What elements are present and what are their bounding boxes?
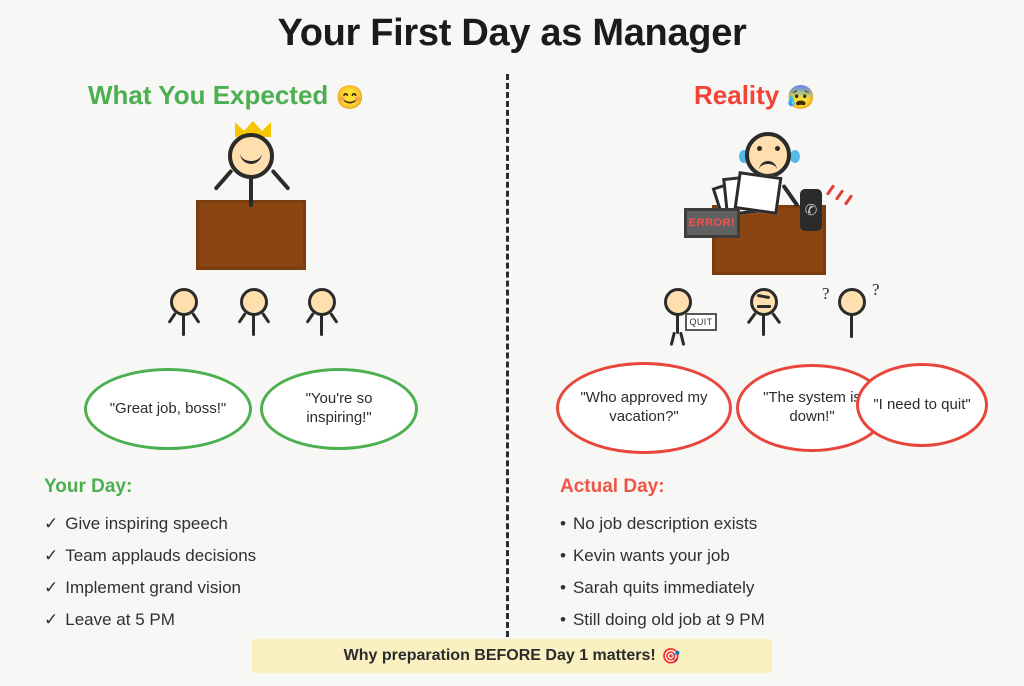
team-member-torso	[320, 314, 323, 336]
anxious-face-with-sweat-icon: 😰	[787, 84, 816, 110]
reality-heading-label: Reality	[694, 80, 779, 110]
team-member-left-arm	[306, 312, 315, 324]
reality-list-title: Actual Day:	[560, 476, 665, 498]
list-item: • No job description exists	[560, 508, 765, 540]
infographic-canvas: Your First Day as Manager What You Expec…	[0, 0, 1024, 686]
team-member-left-arm	[168, 312, 177, 324]
laptop-error-icon: ERROR!	[684, 208, 740, 238]
list-item-label: Team applauds decisions	[65, 546, 256, 566]
vertical-dashed-divider	[506, 74, 509, 646]
reality-speech-bubble: "I need to quit"	[856, 363, 988, 447]
footer-callout-text: Why preparation BEFORE Day 1 matters!	[344, 647, 656, 665]
team-member-right-arm	[191, 312, 200, 324]
list-item: • Still doing old job at 9 PM	[560, 604, 765, 636]
expected-heading-label: What You Expected	[88, 80, 328, 110]
desk-icon	[196, 200, 306, 270]
phone-body: ✆	[800, 189, 822, 231]
confused-employee-head	[838, 288, 866, 316]
footer-callout-banner: Why preparation BEFORE Day 1 matters! 🎯	[252, 639, 772, 673]
phone-ring-line	[826, 184, 835, 196]
page-title: Your First Day as Manager	[0, 12, 1024, 55]
annoyed-employee-torso	[762, 314, 765, 336]
reality-speech-bubble: "Who approved my vacation?"	[556, 362, 732, 454]
smiling-face-icon: 😊	[336, 84, 365, 110]
bullet-icon: •	[560, 546, 566, 566]
sweat-drop-icon	[790, 150, 800, 163]
quitting-employee-left-leg	[670, 332, 676, 346]
list-item-label: Give inspiring speech	[65, 514, 228, 534]
list-item-label: Implement grand vision	[65, 578, 241, 598]
quitting-employee-right-leg	[679, 332, 685, 346]
annoyed-employee-mouth	[757, 305, 771, 308]
annoyed-employee-left-arm	[747, 312, 757, 324]
team-member-right-arm	[261, 312, 270, 324]
manager-right-arm	[270, 169, 290, 191]
stressed-manager-frown-mouth	[759, 161, 777, 173]
phone-ring-line	[844, 194, 853, 206]
expected-list-title: Your Day:	[44, 476, 132, 498]
paper-sheet	[734, 171, 783, 215]
reality-column-heading: Reality 😰	[694, 80, 815, 111]
expected-list: ✓ Give inspiring speech ✓ Team applauds …	[44, 508, 256, 636]
list-item-label: Sarah quits immediately	[573, 578, 754, 598]
confused-employee-torso	[850, 314, 853, 338]
quit-sign: QUIT	[685, 313, 717, 331]
team-member-torso	[252, 314, 255, 336]
team-member-left-arm	[238, 312, 247, 324]
list-item: • Sarah quits immediately	[560, 572, 765, 604]
list-item: ✓ Leave at 5 PM	[44, 604, 256, 636]
stressed-manager-right-eye	[775, 146, 780, 151]
phone-ring-line	[835, 189, 844, 201]
team-member-right-arm	[329, 312, 338, 324]
expected-speech-bubble: "You're so inspiring!"	[260, 368, 418, 450]
checkmark-icon: ✓	[44, 610, 58, 630]
list-item: • Kevin wants your job	[560, 540, 765, 572]
question-mark-icon: ?	[822, 284, 830, 304]
stressed-manager-right-arm	[781, 184, 799, 208]
dart-target-icon: 🎯	[662, 647, 681, 665]
expected-speech-bubble: "Great job, boss!"	[84, 368, 252, 450]
stressed-manager-left-eye	[757, 146, 762, 151]
quitting-employee-torso	[676, 314, 679, 334]
bullet-icon: •	[560, 578, 566, 598]
checkmark-icon: ✓	[44, 546, 58, 566]
expected-column-heading: What You Expected 😊	[88, 80, 364, 111]
question-mark-icon: ?	[872, 280, 880, 300]
manager-left-arm	[213, 169, 233, 191]
checkmark-icon: ✓	[44, 578, 58, 598]
list-item: ✓ Give inspiring speech	[44, 508, 256, 540]
checkmark-icon: ✓	[44, 514, 58, 534]
list-item-label: Leave at 5 PM	[65, 610, 175, 630]
team-member-torso	[182, 314, 185, 336]
list-item: ✓ Team applauds decisions	[44, 540, 256, 572]
list-item-label: Still doing old job at 9 PM	[573, 610, 765, 630]
bullet-icon: •	[560, 514, 566, 534]
list-item: ✓ Implement grand vision	[44, 572, 256, 604]
list-item-label: No job description exists	[573, 514, 757, 534]
bullet-icon: •	[560, 610, 566, 630]
annoyed-employee-right-arm	[771, 312, 781, 324]
manager-torso	[249, 177, 253, 207]
quitting-employee-head	[664, 288, 692, 316]
reality-list: • No job description exists • Kevin want…	[560, 508, 765, 636]
list-item-label: Kevin wants your job	[573, 546, 730, 566]
